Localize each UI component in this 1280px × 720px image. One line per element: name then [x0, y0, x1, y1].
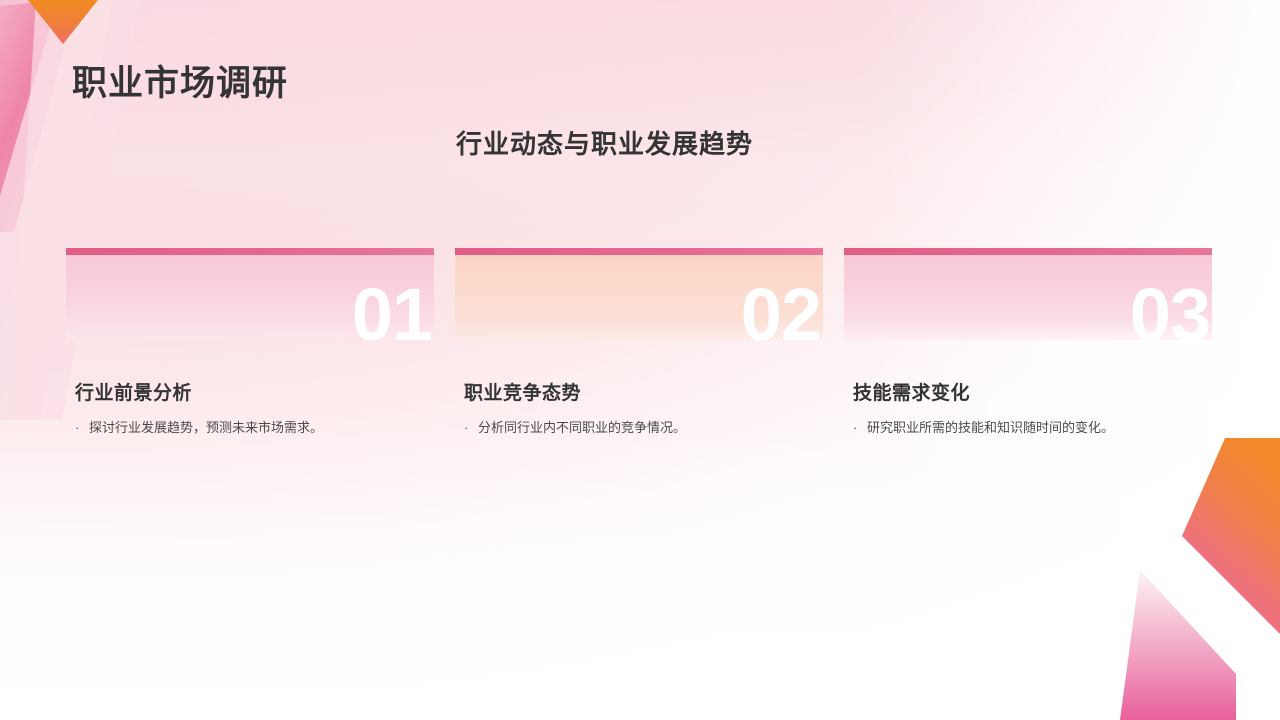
caption-bullet-item: · 探讨行业发展趋势，预测未来市场需求。	[75, 418, 434, 438]
caption-block-01: 行业前景分析 · 探讨行业发展趋势，预测未来市场需求。	[66, 378, 434, 438]
number-card-03[interactable]: 03	[844, 248, 1212, 340]
page-subtitle: 行业动态与职业发展趋势	[456, 124, 753, 161]
caption-block-02: 职业竞争态势 · 分析同行业内不同职业的竞争情况。	[455, 378, 823, 438]
card-body: 02	[455, 255, 823, 340]
bullet-dot-icon: ·	[75, 418, 89, 438]
page-title: 职业市场调研	[72, 55, 288, 106]
caption-title: 行业前景分析	[75, 378, 434, 405]
card-number-label: 02	[741, 278, 821, 352]
caption-bullet-text: 探讨行业发展趋势，预测未来市场需求。	[89, 418, 434, 438]
caption-block-03: 技能需求变化 · 研究职业所需的技能和知识随时间的变化。	[844, 378, 1212, 438]
caption-bullet-item: · 分析同行业内不同职业的竞争情况。	[464, 418, 823, 438]
caption-title: 职业竞争态势	[464, 378, 823, 405]
card-captions-row: 行业前景分析 · 探讨行业发展趋势，预测未来市场需求。 职业竞争态势 · 分析同…	[66, 378, 1212, 438]
bullet-dot-icon: ·	[853, 418, 867, 438]
card-accent-bar	[455, 248, 823, 255]
background-bottom-tint	[0, 420, 1280, 720]
card-accent-bar	[844, 248, 1212, 255]
card-accent-bar	[66, 248, 434, 255]
number-card-01[interactable]: 01	[66, 248, 434, 340]
card-body: 01	[66, 255, 434, 340]
number-cards-row: 01 02 03	[66, 248, 1212, 340]
caption-bullet-item: · 研究职业所需的技能和知识随时间的变化。	[853, 418, 1212, 438]
card-number-label: 01	[352, 278, 432, 352]
card-number-label: 03	[1130, 278, 1210, 352]
number-card-02[interactable]: 02	[455, 248, 823, 340]
caption-title: 技能需求变化	[853, 378, 1212, 405]
bullet-dot-icon: ·	[464, 418, 478, 438]
caption-bullet-text: 研究职业所需的技能和知识随时间的变化。	[867, 418, 1212, 438]
card-body: 03	[844, 255, 1212, 340]
caption-bullet-text: 分析同行业内不同职业的竞争情况。	[478, 418, 823, 438]
slide-canvas: 职业市场调研 行业动态与职业发展趋势 01 02 03 行业前景分析	[0, 0, 1280, 720]
